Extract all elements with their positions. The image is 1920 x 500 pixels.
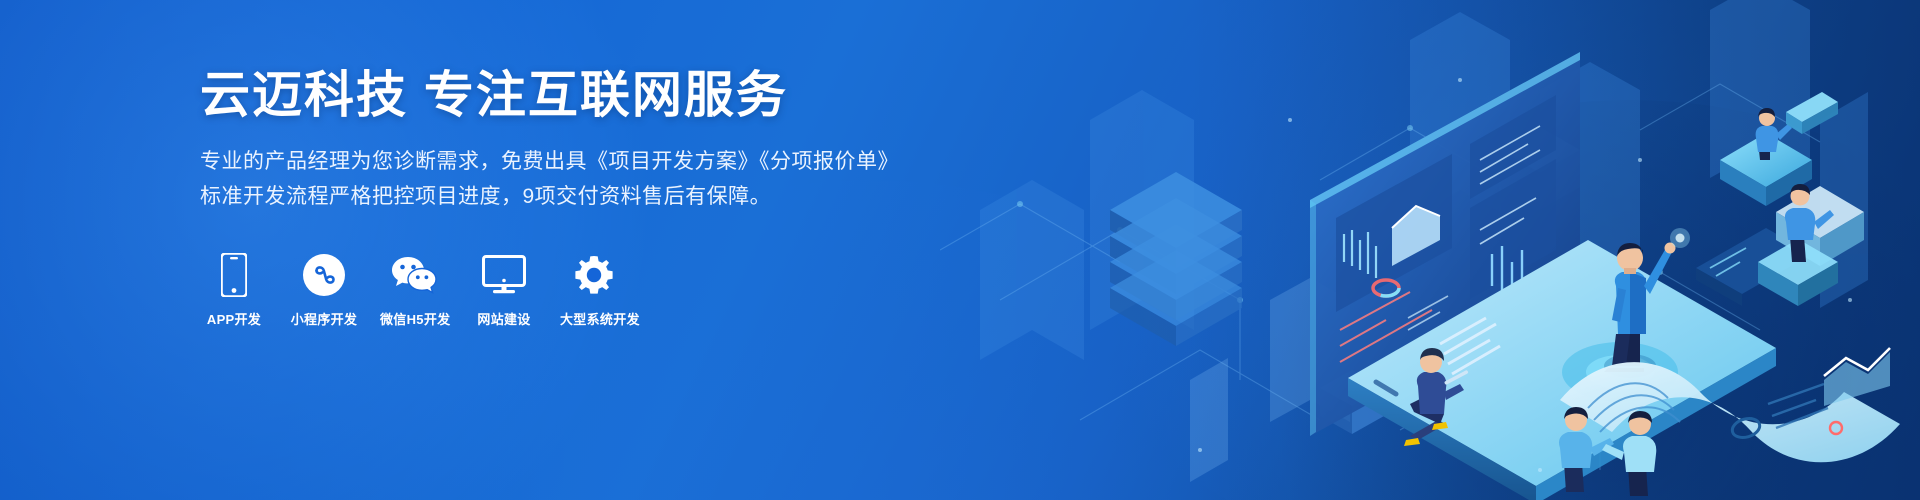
monitor-icon [470, 252, 538, 298]
wechat-icon [380, 252, 448, 298]
service-item-mini-program[interactable]: 小程序开发 [290, 252, 358, 328]
service-item-large-system[interactable]: 大型系统开发 [560, 252, 628, 328]
mobile-phone-icon [200, 252, 268, 298]
service-item-app[interactable]: APP开发 [200, 252, 268, 328]
banner-content: 云迈科技 专注互联网服务 专业的产品经理为您诊断需求，免费出具《项目开发方案》《… [200, 66, 960, 328]
subtitle-line-1: 专业的产品经理为您诊断需求，免费出具《项目开发方案》《分项报价单》 [200, 145, 960, 180]
subtitle-line-2: 标准开发流程严格把控项目进度，9项交付资料售后有保障。 [200, 180, 960, 215]
page-title: 云迈科技 专注互联网服务 [200, 66, 960, 125]
service-item-wechat[interactable]: 微信H5开发 [380, 252, 448, 328]
mini-program-icon [290, 252, 358, 298]
service-label: 大型系统开发 [560, 309, 628, 328]
gear-icon [560, 252, 628, 298]
isometric-tech-illustration [940, 0, 1920, 500]
service-label: 微信H5开发 [380, 309, 448, 328]
service-label: 网站建设 [470, 309, 538, 328]
banner-subtitle: 专业的产品经理为您诊断需求，免费出具《项目开发方案》《分项报价单》 标准开发流程… [200, 145, 960, 214]
service-label: 小程序开发 [290, 309, 358, 328]
service-list: APP开发 小程序开发 [200, 252, 960, 328]
service-item-website[interactable]: 网站建设 [470, 252, 538, 328]
service-label: APP开发 [200, 309, 268, 328]
promo-banner: 云迈科技 专注互联网服务 专业的产品经理为您诊断需求，免费出具《项目开发方案》《… [0, 0, 1920, 500]
